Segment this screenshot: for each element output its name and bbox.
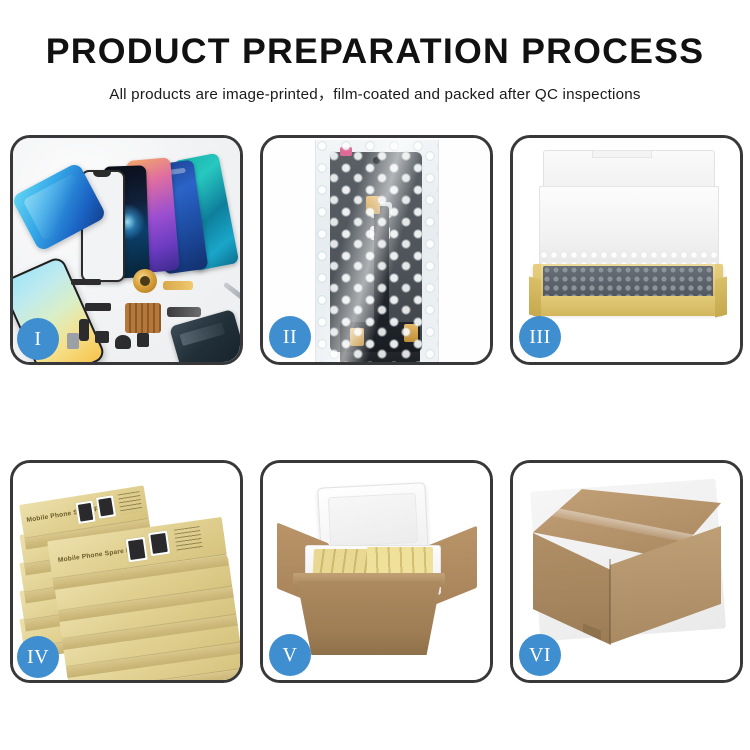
window-screen [98, 498, 113, 517]
spare-parts-cluster [71, 273, 240, 362]
part-bracket [95, 331, 109, 343]
step-panel-3: III [510, 135, 743, 365]
box-window-left [126, 537, 148, 562]
part-button-flex [79, 319, 89, 341]
tray-flap-left [529, 277, 541, 318]
page-title: PRODUCT PREPARATION PROCESS [0, 34, 750, 69]
part-sim-tray [67, 333, 79, 349]
box-window-left [76, 501, 96, 524]
part-copper-coil [133, 269, 157, 293]
page-subtitle: All products are image-printed，film-coat… [0, 82, 750, 104]
box-window-right [148, 531, 170, 556]
step-panel-4: Mobile Phone Spare Parts Mobile Phone Sp… [10, 460, 243, 683]
tray-front-wall [533, 296, 723, 316]
part-sensor [137, 333, 149, 347]
carton-body [297, 581, 441, 655]
window-screen [78, 503, 93, 522]
product-preparation-infographic: PRODUCT PREPARATION PROCESS All products… [0, 0, 750, 750]
box-spec-lines [118, 491, 143, 514]
step-badge-5: V [269, 634, 311, 676]
step-badge-4: IV [17, 636, 59, 678]
step-panel-1: I [10, 135, 243, 365]
step-panel-5: V [260, 460, 493, 683]
box-spec-lines [174, 526, 203, 551]
tray-flap-right [715, 277, 727, 318]
part-vibrator [115, 335, 131, 349]
plastic-glare [315, 138, 437, 362]
step-badge-3: III [519, 316, 561, 358]
step-badge-2: II [269, 316, 311, 358]
carton-corner-seam [609, 559, 611, 643]
step-panel-6: VI [510, 460, 743, 683]
header: PRODUCT PREPARATION PROCESS All products… [0, 0, 750, 104]
box-window-right [96, 495, 116, 518]
step-badge-6: VI [519, 634, 561, 676]
grey-foam-padding [543, 266, 713, 300]
tweezers-tool [223, 282, 240, 306]
part-flex-cable [167, 307, 201, 317]
window-screen [150, 533, 167, 554]
step-panel-2: II [260, 135, 493, 365]
step-badge-1: I [17, 318, 59, 360]
part-screw-grid [125, 303, 161, 333]
process-steps-grid: I [10, 135, 740, 683]
part-gold-flex-cable [163, 281, 193, 290]
window-screen [128, 539, 145, 560]
part-speaker-mesh [71, 279, 101, 285]
part-connector [85, 303, 111, 311]
